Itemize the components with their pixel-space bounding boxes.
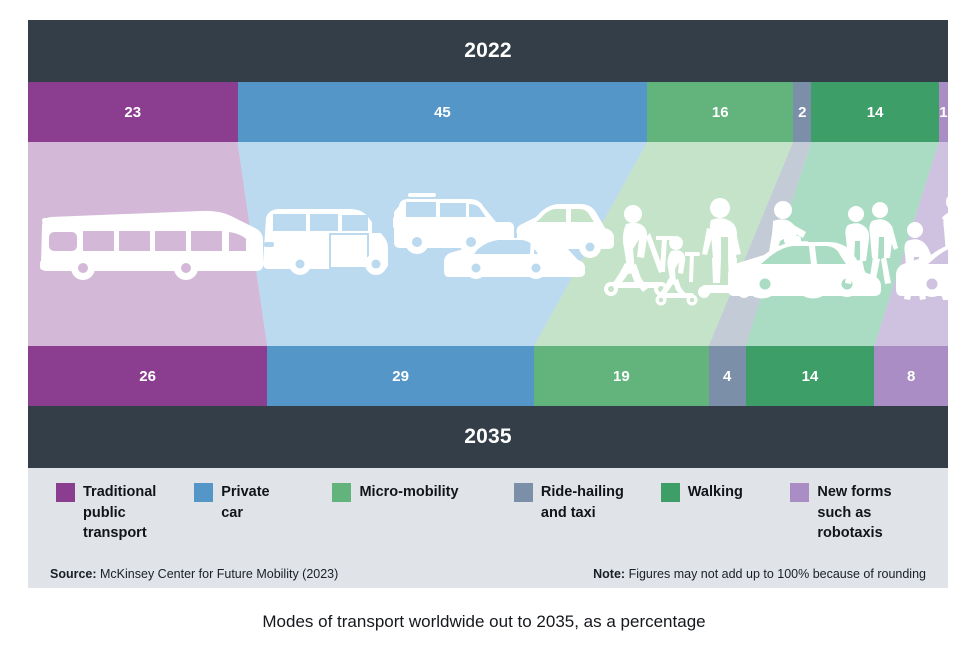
bar-segment-private-car[interactable]: 45	[238, 82, 648, 142]
legend-swatch	[661, 483, 680, 502]
segment-value: 14	[867, 104, 884, 121]
legend-label: Private car	[221, 482, 269, 523]
bar-segment-traditional-public-transport[interactable]: 26	[28, 346, 267, 406]
segment-value: 19	[613, 368, 630, 385]
source-text: McKinsey Center for Future Mobility (202…	[97, 567, 339, 581]
legend-item-new-forms-such-as-robotaxis[interactable]: New forms such as robotaxis	[790, 482, 920, 554]
chart-caption: Modes of transport worldwide out to 2035…	[0, 612, 968, 632]
infographic-root: 2022 2345162141	[0, 0, 968, 658]
legend-label: Walking	[688, 482, 743, 503]
bar-segment-walking[interactable]: 14	[811, 82, 939, 142]
source-label: Source:	[50, 567, 97, 581]
legend-label: Ride-hailing and taxi	[541, 482, 624, 523]
legend-item-ride-hailing-and-taxi[interactable]: Ride-hailing and taxi	[514, 482, 661, 554]
footnotes: Source: McKinsey Center for Future Mobil…	[28, 560, 948, 588]
bar-segment-micro-mobility[interactable]: 19	[534, 346, 709, 406]
legend-label: Traditional public transport	[83, 482, 156, 544]
segment-value: 4	[723, 368, 731, 385]
legend-swatch	[332, 483, 351, 502]
bar-segment-new-forms-such-as-robotaxis[interactable]: 1	[939, 82, 948, 142]
segment-value: 2	[798, 104, 806, 121]
segment-value: 23	[124, 104, 141, 121]
legend-swatch	[790, 483, 809, 502]
year-label-2035-text: 2035	[464, 425, 512, 449]
segment-value: 1	[939, 104, 947, 121]
bar-segment-ride-hailing-and-taxi[interactable]: 2	[793, 82, 811, 142]
rounding-note: Note: Figures may not add up to 100% bec…	[593, 567, 926, 581]
legend: Traditional public transportPrivate carM…	[28, 468, 948, 554]
legend-item-micro-mobility[interactable]: Micro-mobility	[332, 482, 513, 554]
note-label: Note:	[593, 567, 625, 581]
segment-value: 26	[139, 368, 156, 385]
bar-segment-new-forms-such-as-robotaxis[interactable]: 8	[874, 346, 948, 406]
year-label-2022: 2022	[28, 20, 948, 82]
segment-value: 14	[802, 368, 819, 385]
bar-segment-micro-mobility[interactable]: 16	[647, 82, 793, 142]
year-label-2035: 2035	[28, 406, 948, 468]
van-icon	[263, 209, 391, 275]
segment-value: 16	[712, 104, 729, 121]
legend-item-walking[interactable]: Walking	[661, 482, 791, 554]
segment-value: 45	[434, 104, 451, 121]
bar-segment-walking[interactable]: 14	[746, 346, 875, 406]
flow-ribbon-area	[28, 142, 948, 346]
segment-value: 8	[907, 368, 915, 385]
note-text: Figures may not add up to 100% because o…	[625, 567, 926, 581]
pictogram-layer	[28, 142, 948, 346]
legend-swatch	[514, 483, 533, 502]
pedestrians-icon	[845, 202, 898, 284]
legend-item-traditional-public-transport[interactable]: Traditional public transport	[56, 482, 194, 554]
year-label-2022-text: 2022	[464, 39, 512, 63]
legend-label: New forms such as robotaxis	[817, 482, 891, 544]
chart-panel: 2022 2345162141	[28, 20, 948, 588]
segment-value: 29	[392, 368, 409, 385]
legend-item-private-car[interactable]: Private car	[194, 482, 332, 554]
bar-segment-ride-hailing-and-taxi[interactable]: 4	[709, 346, 746, 406]
bus-icon	[40, 211, 263, 280]
bar-segment-traditional-public-transport[interactable]: 23	[28, 82, 238, 142]
stacked-bar-2022[interactable]: 2345162141	[28, 82, 948, 142]
e-scooter-rider-icon	[604, 205, 674, 296]
legend-swatch	[56, 483, 75, 502]
legend-label: Micro-mobility	[359, 482, 458, 503]
legend-swatch	[194, 483, 213, 502]
source-note: Source: McKinsey Center for Future Mobil…	[50, 567, 338, 581]
bar-segment-private-car[interactable]: 29	[267, 346, 534, 406]
stacked-bar-2035[interactable]: 2629194148	[28, 346, 948, 406]
